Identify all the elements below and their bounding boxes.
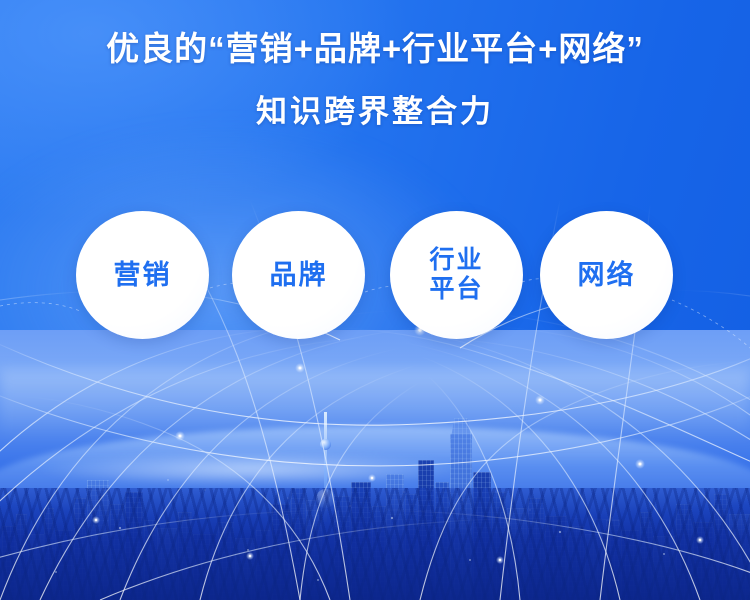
headline-line-2: 知识跨界整合力: [0, 90, 750, 134]
pillar-label-marketing: 营销: [114, 260, 172, 290]
foreground-light-nodes: [0, 488, 750, 600]
city-skyline-photo: [0, 330, 750, 600]
pillar-label-brand: 品牌: [270, 260, 328, 290]
headline: 优良的“营销+品牌+行业平台+网络” 知识跨界整合力: [0, 26, 750, 134]
pillar-circle-industry-platform[interactable]: 行业 平台: [390, 211, 523, 339]
pillar-label-industry-platform: 行业 平台: [429, 246, 483, 304]
pillar-circle-marketing[interactable]: 营销: [76, 211, 209, 339]
pillar-circle-network[interactable]: 网络: [540, 211, 673, 339]
pillar-label-network: 网络: [578, 260, 636, 290]
pillar-circle-group: 营销 品牌 行业 平台 网络: [0, 211, 750, 339]
headline-line-1: 优良的“营销+品牌+行业平台+网络”: [0, 26, 750, 72]
pillar-circle-brand[interactable]: 品牌: [232, 211, 365, 339]
poster-root: 优良的“营销+品牌+行业平台+网络” 知识跨界整合力 营销 品牌 行业 平台 网…: [0, 0, 750, 600]
